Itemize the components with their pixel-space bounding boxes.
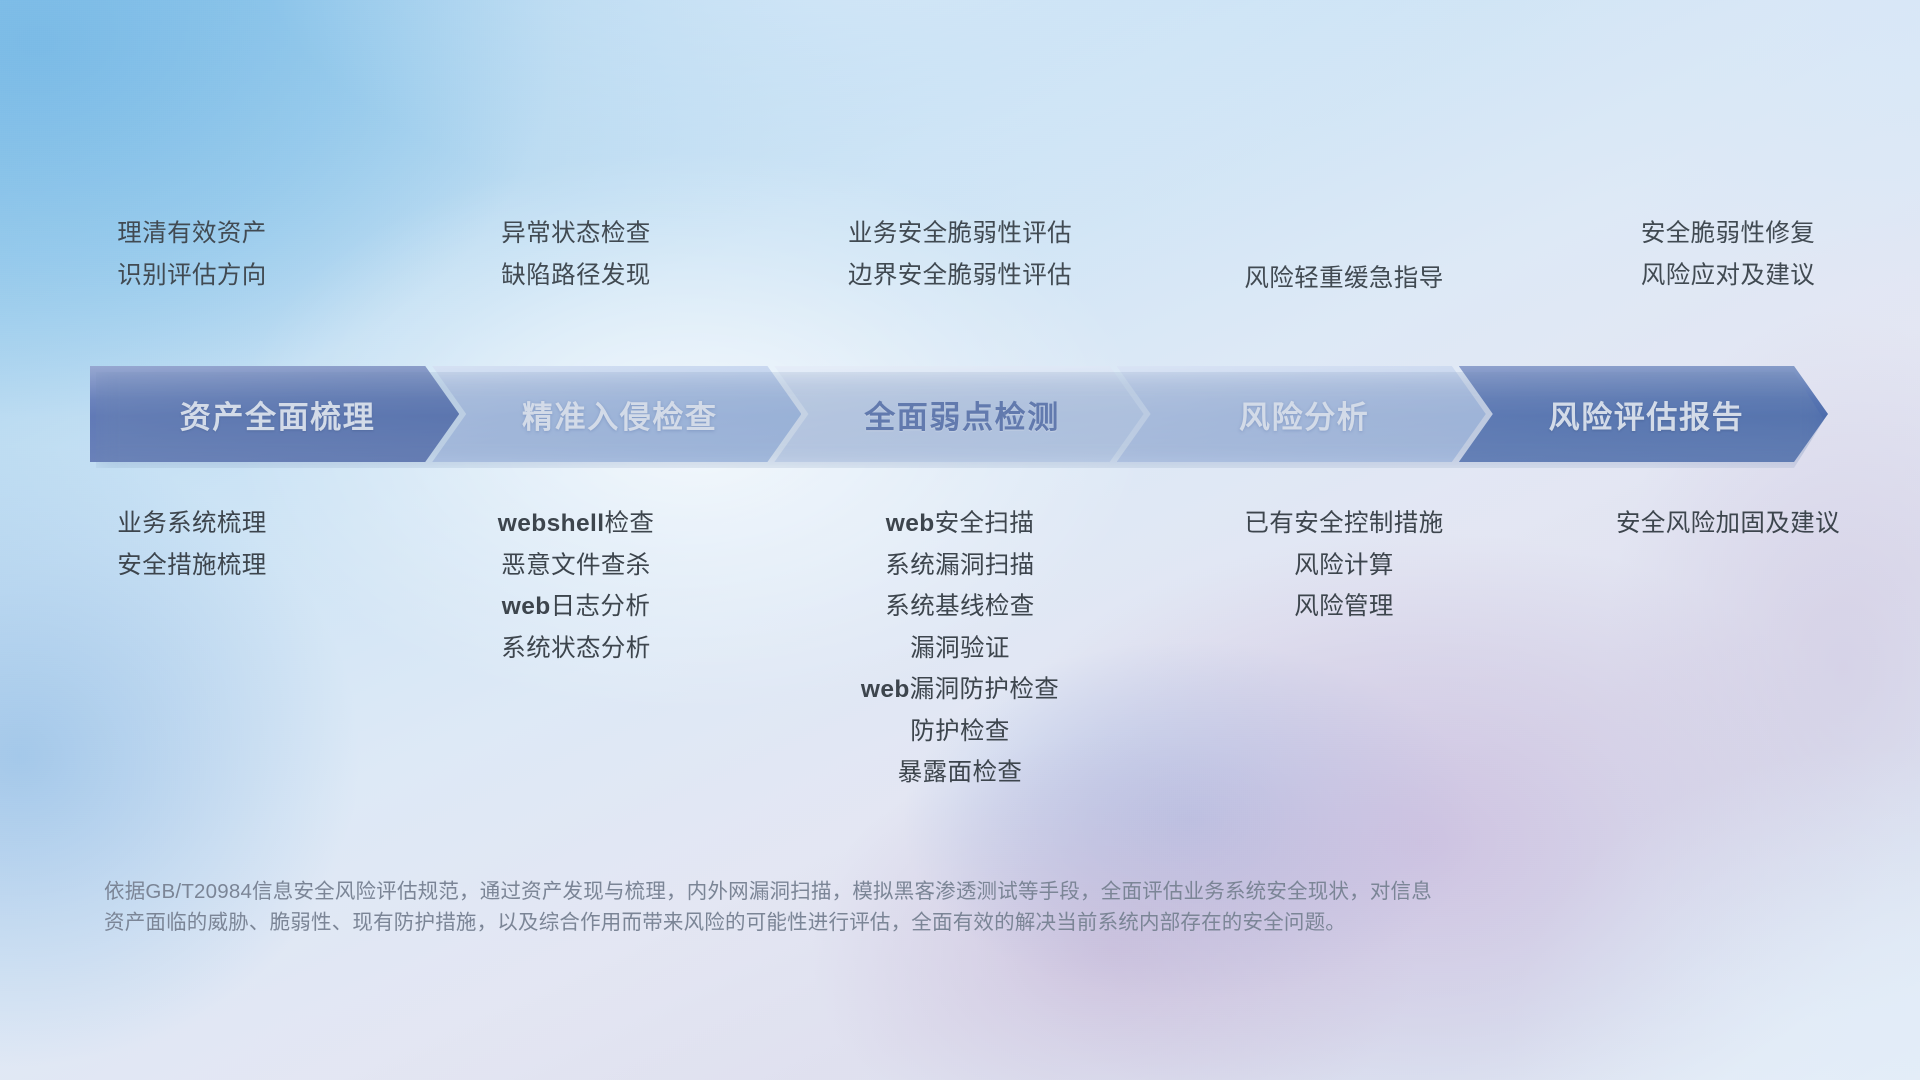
detail-item: 暴露面检查 <box>898 761 1023 786</box>
arrow-band-shadow <box>96 372 1824 468</box>
detail-item: 已有安全控制措施 <box>1244 512 1443 537</box>
detail-item: 安全措施梳理 <box>117 554 266 579</box>
detail-item: web漏洞防护检查 <box>861 678 1059 703</box>
bottom-column-risk-analysis: 已有安全控制措施 风险计算 风险管理 <box>1152 512 1536 842</box>
top-column-asset-inventory: 理清有效资产 识别评估方向 <box>0 222 384 322</box>
top-item: 边界安全脆弱性评估 <box>848 264 1072 289</box>
top-item: 风险应对及建议 <box>1641 264 1815 289</box>
detail-item-cjk: 漏洞防护检查 <box>910 676 1059 703</box>
top-item: 风险轻重缓急指导 <box>1244 267 1443 292</box>
footer-description: 依据GB/T20984信息安全风险评估规范，通过资产发现与梳理，内外网漏洞扫描，… <box>104 876 1644 938</box>
detail-item: 漏洞验证 <box>910 637 1010 662</box>
detail-item: 系统漏洞扫描 <box>885 554 1034 579</box>
detail-item: webshell检查 <box>498 512 655 537</box>
top-item: 异常状态检查 <box>501 222 650 247</box>
detail-item-latin: web <box>502 593 551 620</box>
detail-item: 防护检查 <box>910 720 1010 745</box>
bottom-column-asset-inventory: 业务系统梳理 安全措施梳理 <box>0 512 384 842</box>
top-item: 理清有效资产 <box>117 222 266 247</box>
top-item: 缺陷路径发现 <box>501 264 650 289</box>
detail-item: web日志分析 <box>502 595 650 620</box>
detail-item: 风险计算 <box>1294 554 1394 579</box>
detail-item-cjk: 检查 <box>604 510 654 537</box>
top-item: 安全脆弱性修复 <box>1641 222 1815 247</box>
top-column-risk-report: 安全脆弱性修复 风险应对及建议 <box>1536 222 1920 322</box>
detail-item-cjk: 日志分析 <box>551 593 651 620</box>
bottom-column-intrusion-check: webshell检查 恶意文件查杀 web日志分析 系统状态分析 <box>384 512 768 842</box>
top-descriptor-row: 理清有效资产 识别评估方向 异常状态检查 缺陷路径发现 业务安全脆弱性评估 边界… <box>0 222 1920 322</box>
detail-item-latin: web <box>861 676 910 703</box>
detail-item: web安全扫描 <box>886 512 1034 537</box>
bottom-column-weakness-detection: web安全扫描 系统漏洞扫描 系统基线检查 漏洞验证 web漏洞防护检查 防护检… <box>768 512 1152 842</box>
detail-item-latin: web <box>886 510 935 537</box>
detail-item: 风险管理 <box>1294 595 1394 620</box>
detail-item-cjk: 安全扫描 <box>935 510 1035 537</box>
top-column-weakness-detection: 业务安全脆弱性评估 边界安全脆弱性评估 <box>768 222 1152 322</box>
detail-item-latin: webshell <box>498 510 605 537</box>
slide-canvas: 理清有效资产 识别评估方向 异常状态检查 缺陷路径发现 业务安全脆弱性评估 边界… <box>0 0 1920 1080</box>
detail-item: 系统基线检查 <box>885 595 1034 620</box>
top-column-intrusion-check: 异常状态检查 缺陷路径发现 <box>384 222 768 322</box>
top-column-risk-analysis: 风险轻重缓急指导 <box>1152 222 1536 322</box>
detail-item: 业务系统梳理 <box>117 512 266 537</box>
detail-item: 安全风险加固及建议 <box>1616 512 1840 537</box>
top-item: 识别评估方向 <box>117 264 266 289</box>
bottom-column-risk-report: 安全风险加固及建议 <box>1536 512 1920 842</box>
detail-item: 恶意文件查杀 <box>501 554 650 579</box>
bottom-detail-row: 业务系统梳理 安全措施梳理 webshell检查 恶意文件查杀 web日志分析 … <box>0 512 1920 842</box>
detail-item: 系统状态分析 <box>501 637 650 662</box>
top-item: 业务安全脆弱性评估 <box>848 222 1072 247</box>
